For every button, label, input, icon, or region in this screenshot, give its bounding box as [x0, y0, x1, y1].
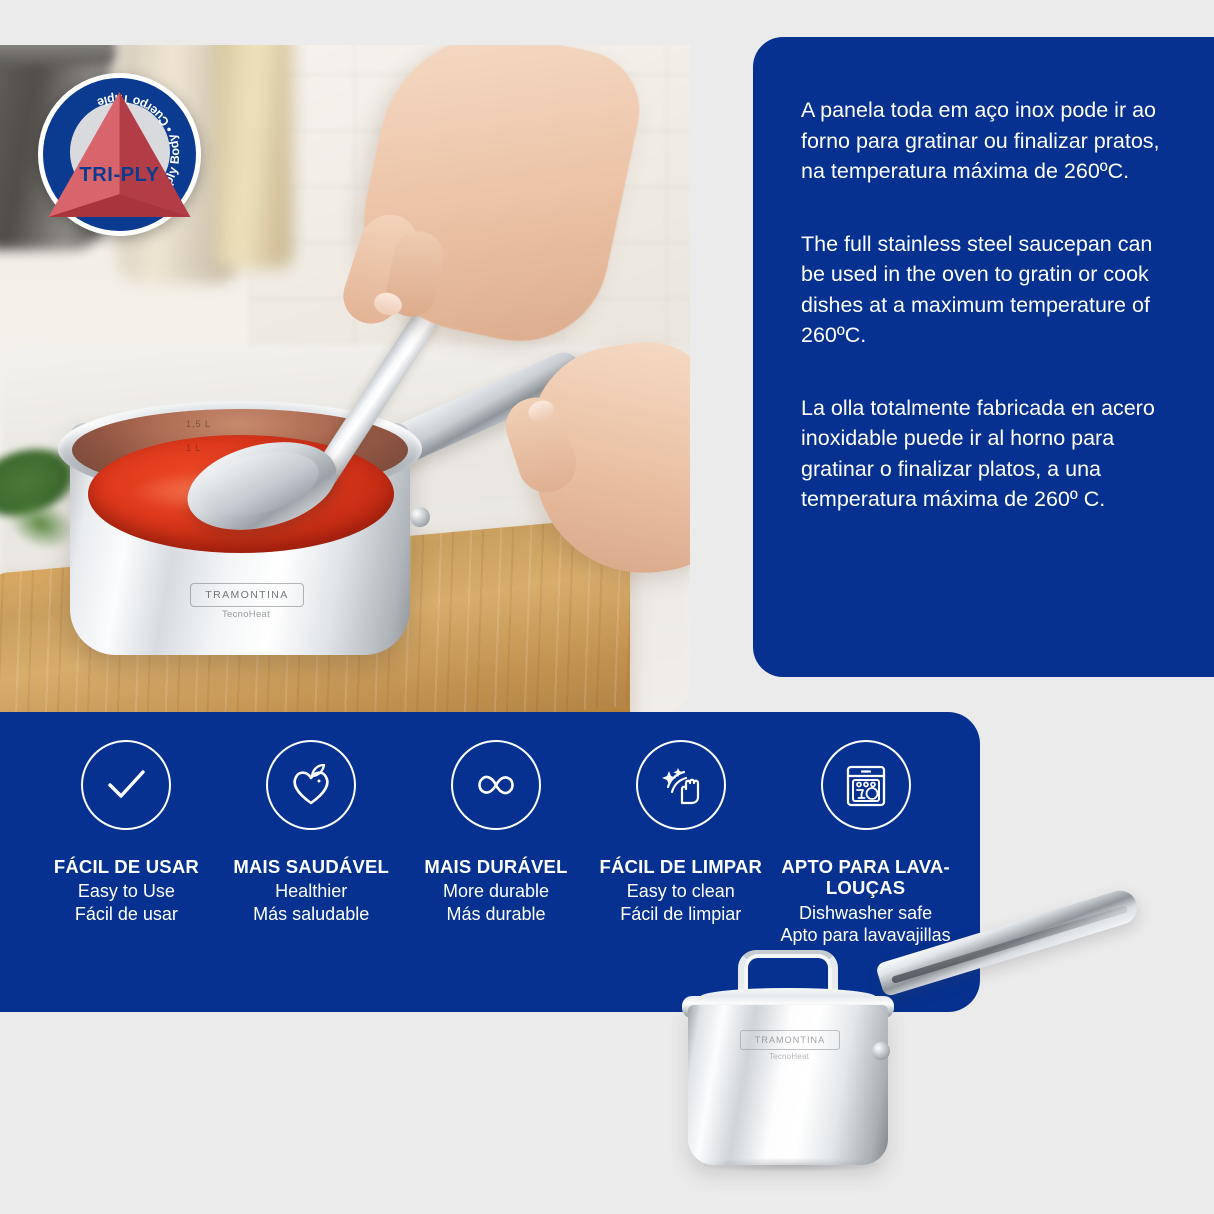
feature-subtitle-en: More durable: [443, 880, 549, 902]
feature-subtitle-es: Fácil de usar: [75, 903, 178, 925]
feature-subtitle-es: Fácil de limpiar: [620, 903, 741, 925]
apple-heart-icon: [266, 740, 356, 830]
marketing-banner: TRAMONTINA 1,5 L 1 L TRAMONTINA TecnoHea…: [0, 0, 1214, 1214]
feature-title: MAIS SAUDÁVEL: [233, 856, 389, 877]
background-pot-lip: [0, 45, 115, 65]
description-paragraph-es: La olla totalmente fabricada en acero in…: [801, 393, 1170, 515]
description-paragraph-en: The full stainless steel saucepan can be…: [801, 229, 1170, 351]
infinity-icon: [451, 740, 541, 830]
product-brand-label: TRAMONTINA: [740, 1030, 840, 1050]
pan-line-label: TecnoHeat: [190, 609, 302, 620]
cleaning-hand-sparkle-icon: [636, 740, 726, 830]
triangle-pyramid-icon: [43, 78, 196, 231]
background-bottle: [215, 45, 293, 269]
tri-ply-badge: Corpo Triplo • Tri-ply Body • Cuerpo Tri…: [38, 73, 201, 236]
checkmark-icon: [81, 740, 171, 830]
feature-subtitle-es: Más saludable: [253, 903, 369, 925]
measure-mark-1: 1,5 L: [186, 419, 306, 429]
feature-title: FÁCIL DE LIMPAR: [599, 856, 762, 877]
feature-title: APTO PARA LAVA-LOUÇAS: [777, 856, 954, 899]
product-body: [688, 1005, 888, 1165]
feature-title: MAIS DURÁVEL: [424, 856, 567, 877]
saucepan-rivet: [410, 507, 430, 527]
feature-subtitle-en: Easy to Use: [78, 880, 175, 902]
product-shadow: [694, 1158, 886, 1172]
feature-subtitle-en: Easy to clean: [627, 880, 735, 902]
description-paragraph-pt: A panela toda em aço inox pode ir ao for…: [801, 95, 1170, 187]
feature-more-durable: MAIS DURÁVEL More durable Más durable: [404, 740, 589, 1012]
feature-subtitle-en: Healthier: [275, 880, 347, 902]
badge-word: TRI-PLY: [43, 164, 196, 187]
feature-easy-to-use: FÁCIL DE USAR Easy to Use Fácil de usar: [34, 740, 219, 1012]
pan-brand-label: TRAMONTINA: [190, 583, 304, 607]
product-rivet: [872, 1042, 890, 1060]
product-line-label: TecnoHeat: [740, 1052, 838, 1061]
feature-subtitle-es: Más durable: [446, 903, 545, 925]
feature-subtitle-en: Dishwasher safe: [799, 902, 932, 924]
feature-healthier: MAIS SAUDÁVEL Healthier Más saludable: [219, 740, 404, 1012]
feature-title: FÁCIL DE USAR: [54, 856, 199, 877]
dishwasher-icon: [821, 740, 911, 830]
description-panel: A panela toda em aço inox pode ir ao for…: [753, 37, 1214, 677]
product-photo: TRAMONTINA TecnoHeat: [660, 930, 1214, 1190]
